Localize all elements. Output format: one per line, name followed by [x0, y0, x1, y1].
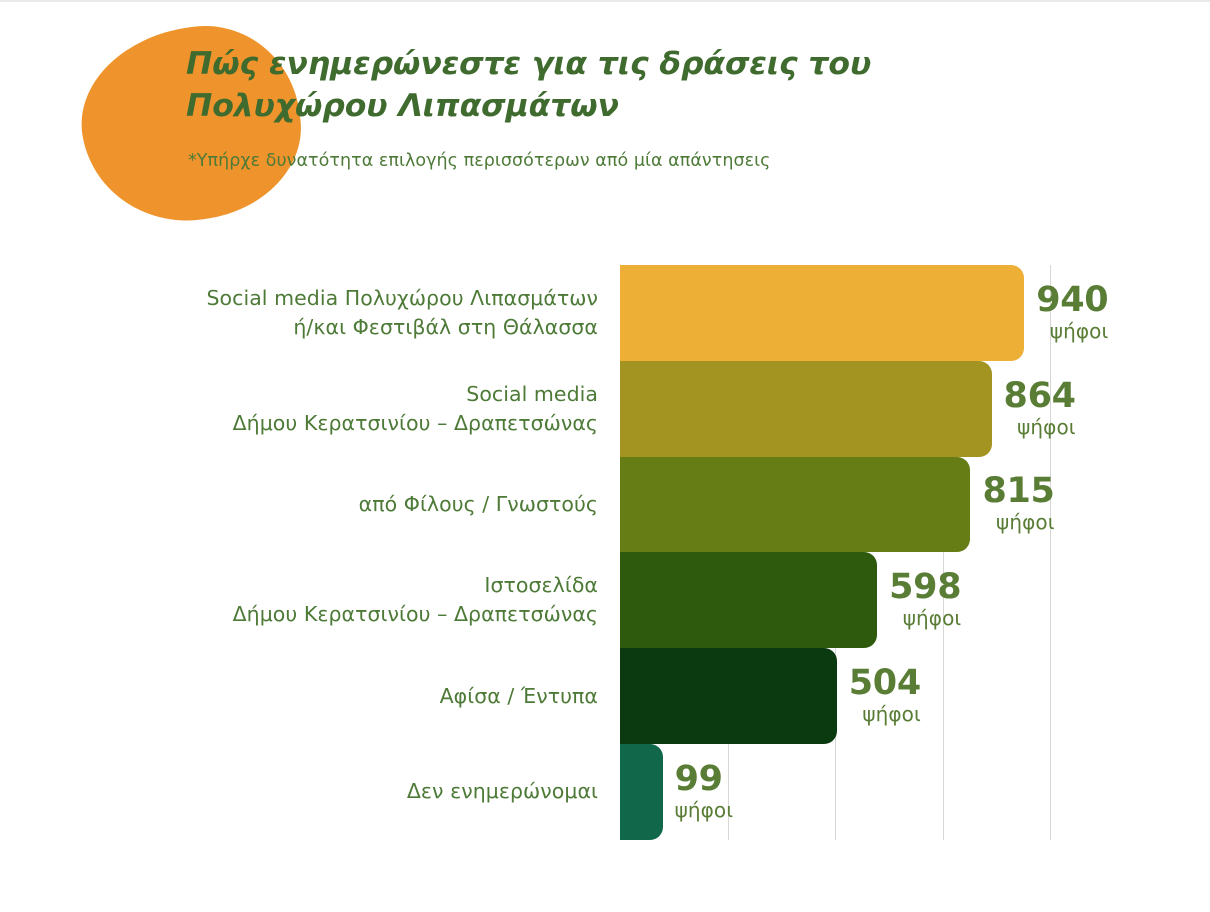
bar-value-block: 99ψήφοι [675, 762, 734, 824]
bar-value-unit: ψήφοι [849, 701, 921, 728]
bar-value-unit: ψήφοι [1036, 318, 1108, 345]
bar-row: Αφίσα / Έντυπα504ψήφοι [0, 648, 1210, 744]
bar-category-label: από Φίλους / Γνωστούς [359, 490, 598, 519]
chart-plot-area: Social media Πολυχώρου Λιπασμάτων ή/και … [0, 240, 1210, 860]
bar-value-block: 598ψήφοι [889, 570, 961, 632]
bar[interactable] [620, 744, 663, 840]
bar-category-label: Ιστοσελίδα Δήμου Κερατσινίου – Δραπετσών… [233, 571, 598, 629]
bars-group: Social media Πολυχώρου Λιπασμάτων ή/και … [0, 240, 1210, 860]
bar-value-number: 940 [1036, 283, 1108, 318]
bar-category-label: Social media Πολυχώρου Λιπασμάτων ή/και … [206, 284, 598, 342]
bar-value-number: 504 [849, 666, 921, 701]
bar-value-number: 864 [1004, 379, 1076, 414]
bar-category-label: Δεν ενημερώνομαι [407, 777, 598, 806]
bar[interactable] [620, 361, 992, 457]
bar-value-unit: ψήφοι [982, 509, 1054, 536]
bar-row: από Φίλους / Γνωστούς815ψήφοι [0, 457, 1210, 553]
chart-header: Πώς ενημερώνεστε για τις δράσεις του Πολ… [0, 0, 1210, 240]
bar-value-number: 598 [889, 570, 961, 605]
bar-category-label: Social media Δήμου Κερατσινίου – Δραπετσ… [233, 380, 598, 438]
bar[interactable] [620, 552, 877, 648]
bar[interactable] [620, 648, 837, 744]
bar-row: Δεν ενημερώνομαι99ψήφοι [0, 744, 1210, 840]
bar-value-block: 815ψήφοι [982, 474, 1054, 536]
bar-category-label: Αφίσα / Έντυπα [440, 682, 598, 711]
bar-value-unit: ψήφοι [675, 797, 734, 824]
bar[interactable] [620, 265, 1024, 361]
bar-value-unit: ψήφοι [889, 605, 961, 632]
bar-value-block: 504ψήφοι [849, 666, 921, 728]
bar-value-number: 99 [675, 762, 734, 797]
bar[interactable] [620, 457, 970, 553]
chart-subtitle: *Υπήρχε δυνατότητα επιλογής περισσότερων… [188, 150, 770, 173]
bar-row: Social media Πολυχώρου Λιπασμάτων ή/και … [0, 265, 1210, 361]
bar-row: Ιστοσελίδα Δήμου Κερατσινίου – Δραπετσών… [0, 552, 1210, 648]
bar-value-block: 940ψήφοι [1036, 283, 1108, 345]
bar-value-unit: ψήφοι [1004, 414, 1076, 441]
title-container: Πώς ενημερώνεστε για τις δράσεις του Πολ… [186, 44, 906, 127]
bar-value-number: 815 [982, 474, 1054, 509]
bar-value-block: 864ψήφοι [1004, 379, 1076, 441]
bar-row: Social media Δήμου Κερατσινίου – Δραπετσ… [0, 361, 1210, 457]
page-title: Πώς ενημερώνεστε για τις δράσεις του Πολ… [186, 44, 906, 127]
